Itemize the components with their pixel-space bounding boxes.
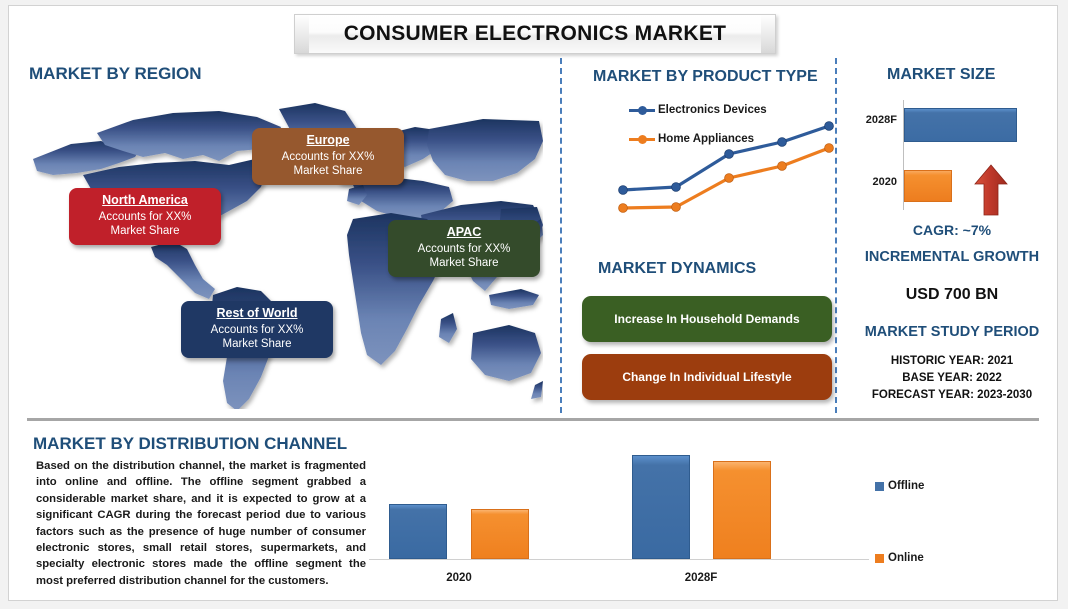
product-type-line-chart: [605, 98, 840, 226]
cagr-label: CAGR: ~7%: [852, 222, 1052, 238]
callout-line-2: Market Share: [396, 256, 532, 270]
dynamics-label: Change In Individual Lifestyle: [622, 370, 791, 384]
market-study-period-heading: MARKET STUDY PERIOD: [852, 324, 1052, 340]
infographic-canvas: CONSUMER ELECTRONICS MARKET MARKET BY RE…: [0, 0, 1068, 609]
legend-offline[interactable]: Offline: [875, 480, 924, 492]
callout-line-1: Accounts for XX%: [189, 323, 325, 337]
horizontal-divider: [27, 418, 1039, 421]
up-arrow-icon: [974, 164, 1008, 216]
dynamics-item-individual-lifestyle[interactable]: Change In Individual Lifestyle: [582, 354, 832, 400]
callout-title: Europe: [260, 133, 396, 149]
legend-swatch-icon: [875, 554, 884, 563]
callout-title: APAC: [396, 225, 532, 241]
distribution-bar-chart: 2020 2028F: [369, 456, 869, 586]
callout-title: Rest of World: [189, 306, 325, 322]
callout-line-2: Market Share: [260, 164, 396, 178]
legend-swatch-icon: [875, 482, 884, 491]
legend-label: Offline: [888, 480, 924, 492]
distribution-paragraph: Based on the distribution channel, the m…: [36, 458, 366, 589]
market-size-bar-2020: [904, 170, 952, 202]
incremental-growth-value: USD 700 BN: [852, 286, 1052, 304]
section-heading-market-dynamics: MARKET DYNAMICS: [598, 260, 756, 278]
callout-europe[interactable]: Europe Accounts for XX% Market Share: [252, 128, 404, 185]
page-frame: CONSUMER ELECTRONICS MARKET MARKET BY RE…: [8, 5, 1058, 601]
market-size-bar-2028f: [904, 108, 1017, 142]
market-size-category-2020: 2020: [847, 176, 897, 188]
dynamics-label: Increase In Household Demands: [614, 312, 799, 326]
page-title: CONSUMER ELECTRONICS MARKET: [344, 22, 727, 46]
section-heading-market-by-product-type: MARKET BY PRODUCT TYPE: [593, 68, 818, 86]
callout-rest-of-world[interactable]: Rest of World Accounts for XX% Market Sh…: [181, 301, 333, 358]
section-heading-market-size: MARKET SIZE: [887, 66, 995, 84]
title-banner: CONSUMER ELECTRONICS MARKET: [294, 14, 776, 54]
dynamics-item-household-demands[interactable]: Increase In Household Demands: [582, 296, 832, 342]
callout-line-2: Market Share: [77, 224, 213, 238]
section-heading-market-by-distribution-channel: MARKET BY DISTRIBUTION CHANNEL: [33, 434, 347, 454]
bar-category-2028f: 2028F: [661, 572, 741, 584]
callout-line-1: Accounts for XX%: [260, 150, 396, 164]
study-period-base-year: BASE YEAR: 2022: [852, 372, 1052, 384]
bar-offline-2020: [389, 504, 447, 559]
callout-apac[interactable]: APAC Accounts for XX% Market Share: [388, 220, 540, 277]
bar-online-2020: [471, 509, 529, 559]
callout-line-1: Accounts for XX%: [77, 210, 213, 224]
callout-line-1: Accounts for XX%: [396, 242, 532, 256]
legend-online[interactable]: Online: [875, 552, 924, 564]
study-period-historic-year: HISTORIC YEAR: 2021: [852, 355, 1052, 367]
section-heading-market-by-region: MARKET BY REGION: [29, 64, 202, 84]
callout-title: North America: [77, 193, 213, 209]
study-period-forecast-year: FORECAST YEAR: 2023-2030: [852, 389, 1052, 401]
market-size-category-2028f: 2028F: [847, 114, 897, 126]
vertical-divider-left: [560, 58, 562, 413]
incremental-growth-heading: INCREMENTAL GROWTH: [852, 249, 1052, 265]
chart-baseline: [369, 559, 869, 560]
bar-offline-2028f: [632, 455, 690, 559]
bar-online-2028f: [713, 461, 771, 559]
callout-north-america[interactable]: North America Accounts for XX% Market Sh…: [69, 188, 221, 245]
bar-category-2020: 2020: [419, 572, 499, 584]
callout-line-2: Market Share: [189, 337, 325, 351]
legend-label: Online: [888, 552, 924, 564]
